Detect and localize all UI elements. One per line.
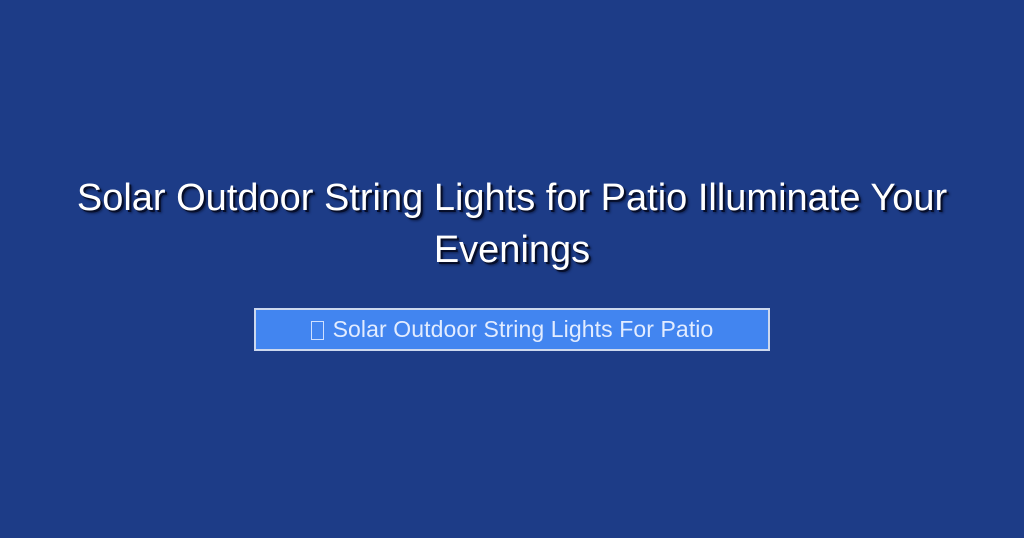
cta-button[interactable]: Solar Outdoor String Lights For Patio — [254, 308, 770, 351]
page-title: Solar Outdoor String Lights for Patio Il… — [0, 172, 1024, 276]
hero-section: Solar Outdoor String Lights for Patio Il… — [0, 0, 1024, 538]
cta-container: Solar Outdoor String Lights For Patio — [0, 308, 1024, 351]
missing-glyph-box-icon — [311, 321, 324, 340]
cta-button-label: Solar Outdoor String Lights For Patio — [333, 318, 714, 341]
page-root: Solar Outdoor String Lights for Patio Il… — [0, 0, 1024, 538]
